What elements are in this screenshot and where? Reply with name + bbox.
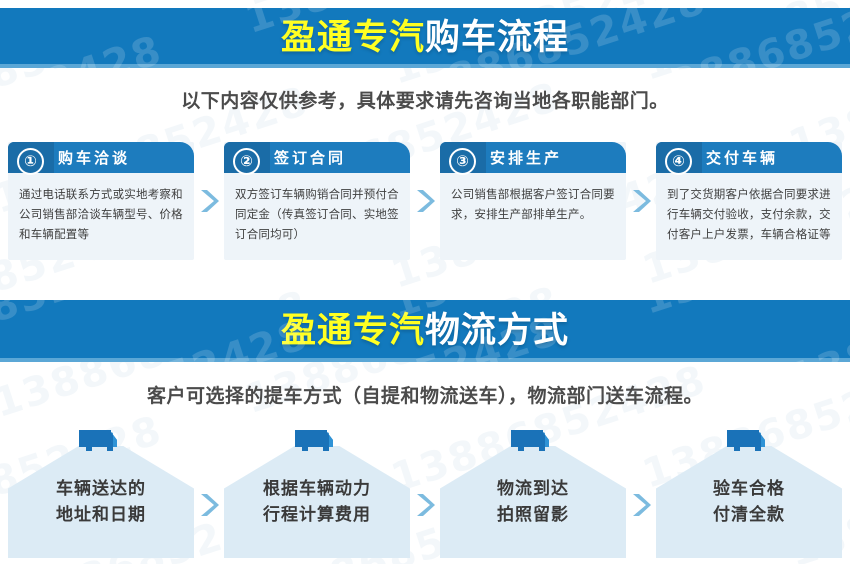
step-card: ④ 交付车辆 到了交货期客户依据合同要求进行车辆交付验收，支付余款，交付客户上户… <box>656 142 842 260</box>
logistics-card-text: 物流到达 拍照留影 <box>440 446 626 558</box>
logistics-banner-title: 盈通专汽物流方式 <box>281 314 569 349</box>
chevron-right-icon <box>194 142 224 260</box>
chevron-right-icon <box>410 142 440 260</box>
step-header: ④ 交付车辆 <box>656 142 842 173</box>
step-title: 购车洽谈 <box>58 147 130 168</box>
purchase-banner-brand: 盈通专汽 <box>281 18 425 58</box>
logistics-card: 物流到达 拍照留影 <box>440 428 626 558</box>
logistics-card: 车辆送达的 地址和日期 <box>8 428 194 558</box>
logistics-banner-brand: 盈通专汽 <box>281 311 425 351</box>
chevron-right-icon <box>626 428 656 558</box>
logistics-banner-rest: 物流方式 <box>425 311 569 351</box>
logistics-card-text: 根据车辆动力 行程计算费用 <box>224 446 410 558</box>
step-card: ② 签订合同 双方签订车辆购销合同并预付合同定金（传真签订合同、实地签订合同均可… <box>224 142 410 260</box>
logistics-line-1: 根据车辆动力 <box>263 476 371 502</box>
logistics-subtitle: 客户可选择的提车方式（自提和物流送车），物流部门送车流程。 <box>0 381 850 408</box>
chevron-right-icon <box>194 428 224 558</box>
logistics-card-text: 验车合格 付清全款 <box>656 446 842 558</box>
step-number-badge: ③ <box>449 148 476 175</box>
logistics-card-text: 车辆送达的 地址和日期 <box>8 446 194 558</box>
purchase-flow-banner: 1388685242813886852428138868524281388685… <box>0 8 850 68</box>
chevron-right-icon <box>626 142 656 260</box>
step-header: ① 购车洽谈 <box>8 142 194 173</box>
step-number-badge: ④ <box>665 148 692 175</box>
step-card: ① 购车洽谈 通过电话联系方式或实地考察和公司销售部洽谈车辆型号、价格和车辆配置… <box>8 142 194 260</box>
chevron-right-icon <box>410 428 440 558</box>
step-title: 签订合同 <box>274 147 346 168</box>
step-body-text: 双方签订车辆购销合同并预付合同定金（传真签订合同、实地签订合同均可） <box>224 173 410 244</box>
step-number-badge: ① <box>17 148 44 175</box>
step-body-text: 到了交货期客户依据合同要求进行车辆交付验收，支付余款，交付客户上户发票，车辆合格… <box>656 173 842 244</box>
step-header: ③ 安排生产 <box>440 142 626 173</box>
step-title: 交付车辆 <box>706 147 778 168</box>
step-number-badge: ② <box>233 148 260 175</box>
logistics-card: 根据车辆动力 行程计算费用 <box>224 428 410 558</box>
logistics-steps-row: 车辆送达的 地址和日期 根据车辆动力 行程计算费用 <box>8 428 842 558</box>
logistics-line-1: 验车合格 <box>713 476 785 502</box>
logistics-line-2: 地址和日期 <box>56 502 146 528</box>
logistics-line-2: 拍照留影 <box>497 502 569 528</box>
logistics-line-1: 物流到达 <box>497 476 569 502</box>
infographic-page: 1388685242813886852428138868524281388685… <box>0 0 850 564</box>
purchase-banner-title: 盈通专汽购车流程 <box>281 21 569 56</box>
step-body-text: 公司销售部根据客户签订合同要求，安排生产部排单生产。 <box>440 173 626 224</box>
step-title: 安排生产 <box>490 147 562 168</box>
step-header: ② 签订合同 <box>224 142 410 173</box>
logistics-line-2: 行程计算费用 <box>263 502 371 528</box>
purchase-subtitle: 以下内容仅供参考，具体要求请先咨询当地各职能部门。 <box>0 86 850 113</box>
step-card: ③ 安排生产 公司销售部根据客户签订合同要求，安排生产部排单生产。 <box>440 142 626 260</box>
purchase-banner-rest: 购车流程 <box>425 18 569 58</box>
step-body-text: 通过电话联系方式或实地考察和公司销售部洽谈车辆型号、价格和车辆配置等 <box>8 173 194 244</box>
logistics-line-1: 车辆送达的 <box>56 476 146 502</box>
logistics-line-2: 付清全款 <box>713 502 785 528</box>
purchase-steps-row: ① 购车洽谈 通过电话联系方式或实地考察和公司销售部洽谈车辆型号、价格和车辆配置… <box>8 142 842 260</box>
logistics-card: 验车合格 付清全款 <box>656 428 842 558</box>
logistics-banner: 1388685242813886852428138868524281388685… <box>0 300 850 362</box>
